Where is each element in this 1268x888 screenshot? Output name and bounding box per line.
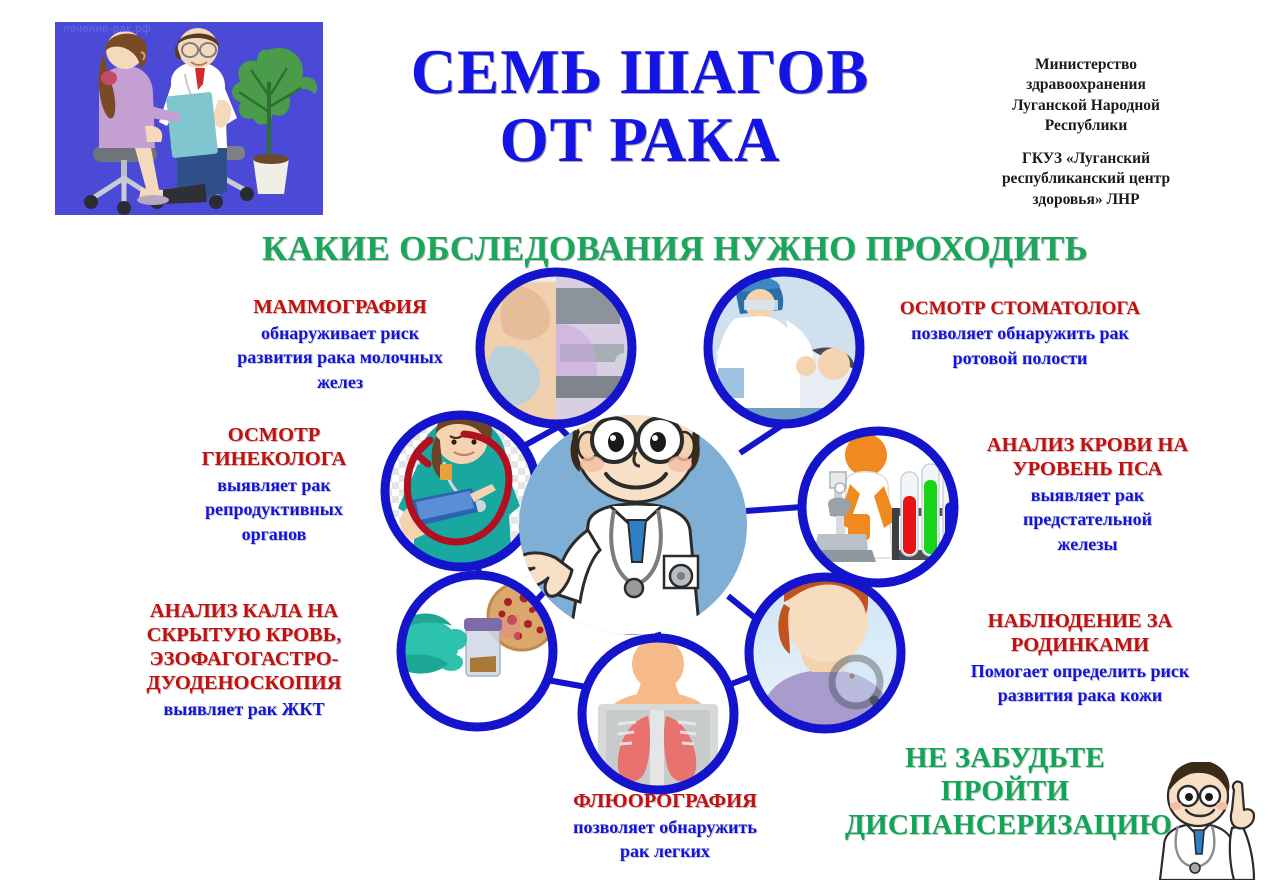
ministry-line-3: Луганской Народной [955,96,1217,116]
cta-line-3: ДИСПАНСЕРИЗАЦИЮ [845,809,1165,842]
label-dentist-desc-1: позволяет обнаружить рак [862,322,1178,345]
label-psa-desc-2: предстательной [955,508,1220,531]
label-gynecologist-desc-1: выявляет рак [145,474,403,497]
label-psa-desc-3: железы [955,533,1220,556]
label-mammography-desc-2: развития рака молочных [190,346,490,369]
ministry-line-2: здравоохранения [955,75,1217,95]
label-fluorography-desc-2: рак легких [515,840,815,863]
step-circle-stool-sample[interactable] [400,575,556,727]
step-circle-gynecologist[interactable] [385,411,537,567]
label-moles-heading-1: НАБЛЮДЕНИЕ ЗА [935,610,1225,634]
page-title: СЕМЬ ШАГОВ ОТ РАКА [330,38,950,174]
cta-line-1: НЕ ЗАБУДЬТЕ [845,742,1165,775]
label-stool-heading-4: ДУОДЕНОСКОПИЯ [108,672,380,696]
ministry-line-6: республиканский центр [955,169,1217,189]
step-circle-fluorography[interactable] [582,638,734,790]
label-gynecologist: ОСМОТР ГИНЕКОЛОГА выявляет рак репродукт… [145,424,403,545]
ministry-line-5: ГКУЗ «Луганский [955,149,1217,169]
label-gynecologist-desc-2: репродуктивных [145,498,403,521]
label-fluorography-heading: ФЛЮОРОГРАФИЯ [515,790,815,814]
ministry-line-4: Республики [955,116,1217,136]
doctor-pointing-icon [1142,762,1260,880]
ministry-line-1: Министерство [955,55,1217,75]
call-to-action: НЕ ЗАБУДЬТЕ ПРОЙТИ ДИСПАНСЕРИЗАЦИЮ [845,742,1165,842]
label-moles: НАБЛЮДЕНИЕ ЗА РОДИНКАМИ Помогает определ… [935,610,1225,707]
label-fluorography-desc-1: позволяет обнаружить [515,816,815,839]
label-mammography-heading: МАММОГРАФИЯ [190,296,490,320]
label-stool-endoscopy: АНАЛИЗ КАЛА НА СКРЫТУЮ КРОВЬ, ЭЗОФАГОГАС… [108,600,380,720]
consultation-illustration: лечение-рак.рф [55,22,323,215]
label-psa: АНАЛИЗ КРОВИ НА УРОВЕНЬ ПСА выявляет рак… [955,434,1220,555]
step-circle-psa-lab[interactable] [802,431,964,583]
label-dentist-heading: ОСМОТР СТОМАТОЛОГА [862,298,1178,320]
doctor-mascot [1142,762,1260,880]
label-gynecologist-heading-2: ГИНЕКОЛОГА [145,448,403,472]
title-line-1: СЕМЬ ШАГОВ [330,38,950,106]
label-psa-heading-2: УРОВЕНЬ ПСА [955,458,1220,482]
label-psa-desc-1: выявляет рак [955,484,1220,507]
ministry-block: Министерство здравоохранения Луганской Н… [955,55,1217,210]
label-mammography-desc-1: обнаруживает риск [190,322,490,345]
label-stool-heading-1: АНАЛИЗ КАЛА НА [108,600,380,624]
label-stool-heading-3: ЭЗОФАГОГАСТРО- [108,648,380,672]
consultation-scene-icon [55,22,323,215]
label-moles-desc-1: Помогает определить риск [935,660,1225,683]
label-stool-desc-1: выявляет рак ЖКТ [108,698,380,721]
ministry-line-7: здоровья» ЛНР [955,190,1217,210]
label-stool-heading-2: СКРЫТУЮ КРОВЬ, [108,624,380,648]
title-line-2: ОТ РАКА [330,106,950,174]
label-dentist: ОСМОТР СТОМАТОЛОГА позволяет обнаружить … [862,298,1178,369]
label-gynecologist-heading-1: ОСМОТР [145,424,403,448]
label-moles-heading-2: РОДИНКАМИ [935,634,1225,658]
label-moles-desc-2: развития рака кожи [935,684,1225,707]
label-fluorography: ФЛЮОРОГРАФИЯ позволяет обнаружить рак ле… [515,790,815,863]
poster-root: лечение-рак.рф СЕМЬ ШАГОВ ОТ РАКА Минист… [0,0,1268,888]
label-dentist-desc-2: ротовой полости [862,347,1178,370]
cta-line-2: ПРОЙТИ [845,775,1165,808]
image-watermark: лечение-рак.рф [63,23,151,35]
step-circle-dentist[interactable] [708,272,862,424]
label-psa-heading-1: АНАЛИЗ КРОВИ НА [955,434,1220,458]
label-mammography-desc-3: желез [190,371,490,394]
label-gynecologist-desc-3: органов [145,523,403,546]
step-circle-moles[interactable] [749,564,901,729]
label-mammography: МАММОГРАФИЯ обнаруживает риск развития р… [190,296,490,393]
